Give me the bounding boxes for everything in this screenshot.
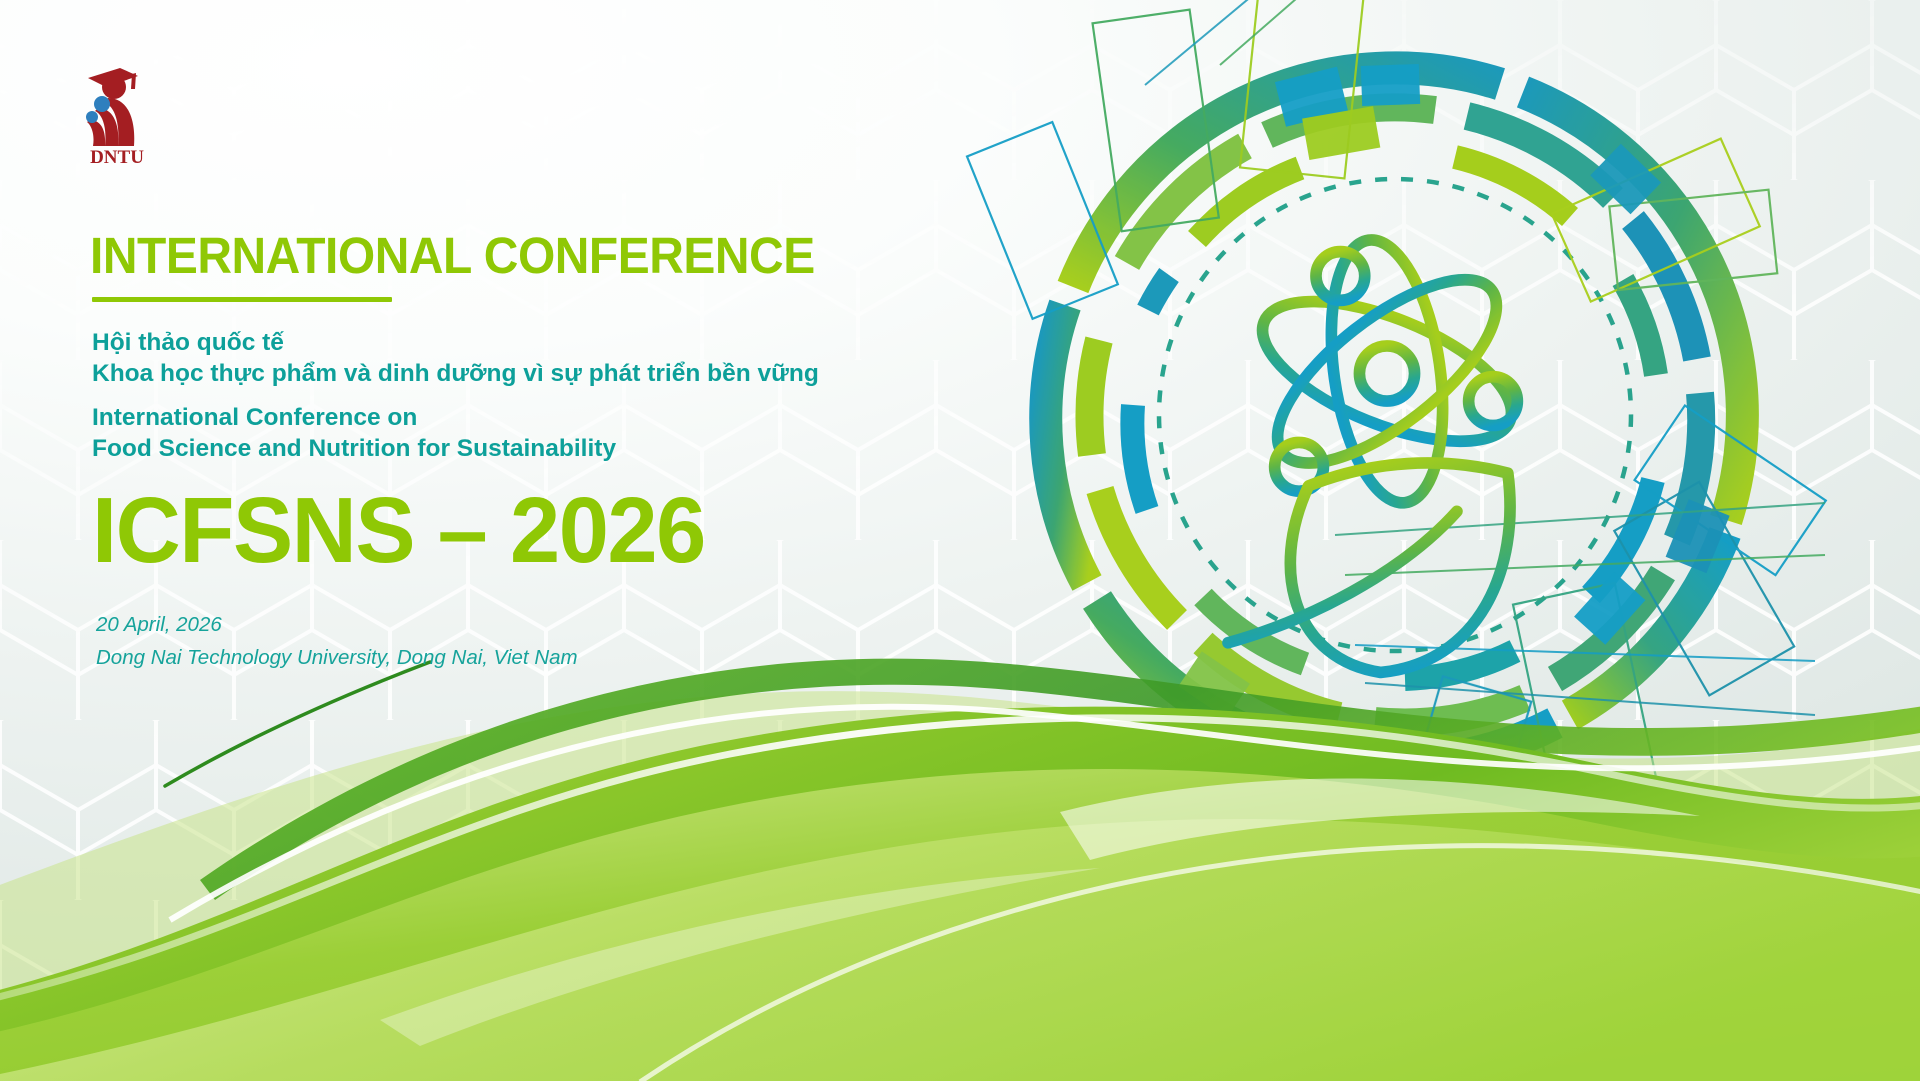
- page-title: INTERNATIONAL CONFERENCE: [90, 226, 815, 285]
- english-subtitle-line2: Food Science and Nutrition for Sustainab…: [92, 433, 616, 464]
- conference-banner: DNTU INTERNATIONAL CONFERENCE Hội thảo q…: [0, 0, 1920, 1081]
- english-subtitle: International Conference on Food Science…: [92, 402, 616, 464]
- event-date: 20 April, 2026: [96, 608, 578, 641]
- event-venue: Dong Nai Technology University, Dong Nai…: [96, 641, 578, 674]
- event-details: 20 April, 2026 Dong Nai Technology Unive…: [96, 608, 578, 674]
- vietnamese-subtitle: Hội thảo quốc tế Khoa học thực phẩm và d…: [92, 327, 819, 389]
- dntu-logo-text: DNTU: [90, 147, 144, 166]
- vietnamese-subtitle-line1: Hội thảo quốc tế: [92, 327, 819, 358]
- conference-acronym: ICFSNS – 2026: [92, 477, 705, 584]
- vietnamese-subtitle-line2: Khoa học thực phẩm và dinh dưỡng vì sự p…: [92, 358, 819, 389]
- dntu-logo: DNTU: [74, 62, 160, 166]
- title-divider: [92, 297, 392, 302]
- banner-text-content: DNTU INTERNATIONAL CONFERENCE Hội thảo q…: [0, 0, 900, 1081]
- english-subtitle-line1: International Conference on: [92, 402, 616, 433]
